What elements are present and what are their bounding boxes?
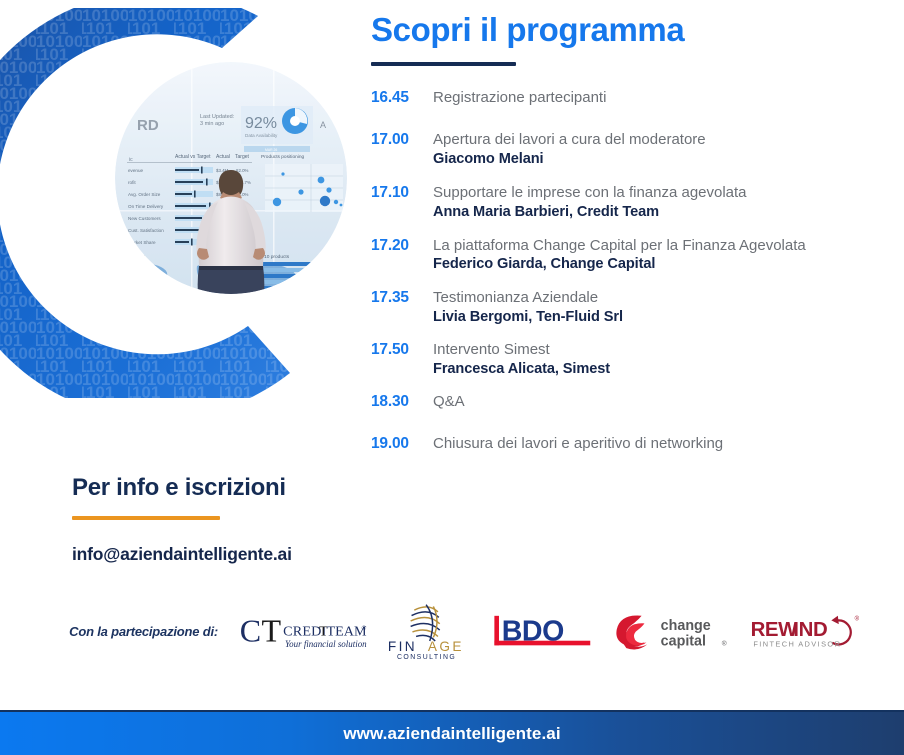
- schedule-speaker: Giacomo Melani: [433, 150, 891, 169]
- schedule-speaker: Francesca Alicata, Simest: [433, 360, 891, 379]
- creditteam-monogram-c: C: [240, 612, 261, 648]
- change-capital-line1: change: [661, 618, 711, 634]
- schedule-row: 17.20La piattaforma Change Capital per l…: [371, 236, 891, 275]
- contact-email[interactable]: info@aziendaintelligente.ai: [72, 544, 292, 565]
- schedule-description: Chiusura dei lavori e aperitivo di netwo…: [433, 434, 891, 454]
- creditteam-tagline: Your financial solution: [285, 639, 367, 649]
- partners-label: Con la partecipazione di:: [0, 624, 232, 639]
- schedule-description: Supportare le imprese con la finanza age…: [433, 183, 891, 203]
- finage-logo: FIN AGE CONSULTING: [372, 601, 482, 661]
- schedule-body: Testimonianza AziendaleLivia Bergomi, Te…: [433, 288, 891, 327]
- change-capital-swirl-icon: [616, 616, 647, 650]
- schedule-row: 17.10Supportare le imprese con la finanz…: [371, 183, 891, 222]
- bdo-logo: BDO: [482, 612, 610, 651]
- schedule-body: Registrazione partecipanti: [433, 88, 891, 108]
- info-title: Per info e iscrizioni: [72, 474, 292, 502]
- rewind-word-second: IND: [793, 619, 827, 641]
- schedule-row: 18.30Q&A: [371, 392, 891, 412]
- schedule-description: Apertura dei lavori a cura del moderator…: [433, 130, 891, 150]
- svg-text:®: ®: [855, 615, 860, 622]
- info-underline: [72, 516, 220, 520]
- change-capital-logo: change capital ®: [610, 610, 740, 652]
- schedule-body: Supportare le imprese con la finanza age…: [433, 183, 891, 222]
- schedule-body: Chiusura dei lavori e aperitivo di netwo…: [433, 434, 891, 454]
- schedule-time: 17.00: [371, 130, 433, 149]
- change-capital-line2: capital: [661, 633, 706, 649]
- schedule-time: 17.20: [371, 236, 433, 255]
- schedule-description: Q&A: [433, 392, 891, 412]
- creditteam-logo: C T CREDI T TEAM ® Your financial soluti…: [232, 609, 372, 653]
- schedule-description: La piattaforma Change Capital per la Fin…: [433, 236, 891, 256]
- schedule-time: 17.35: [371, 288, 433, 307]
- rewind-logo: REW IND ® FINTECH ADVISOR: [740, 611, 880, 652]
- schedule-speaker: Livia Bergomi, Ten-Fluid Srl: [433, 308, 891, 327]
- schedule-time: 17.50: [371, 340, 433, 359]
- finage-word-first: FIN: [388, 639, 417, 654]
- page-title: Scopri il programma: [371, 12, 891, 48]
- footer-bar: www.aziendaintelligente.ai: [0, 710, 904, 755]
- footer-website-url[interactable]: www.aziendaintelligente.ai: [343, 724, 560, 744]
- rewind-arrow-head: [831, 615, 838, 623]
- schedule-row: 16.45Registrazione partecipanti: [371, 88, 891, 108]
- flyer-page: 10100 01101: [0, 0, 904, 755]
- finage-word-second: AGE: [428, 639, 464, 654]
- bdo-wordmark: BDO: [502, 615, 564, 647]
- rewind-subtitle: FINTECH ADVISOR: [753, 639, 841, 648]
- schedule-row: 17.50Intervento SimestFrancesca Alicata,…: [371, 340, 891, 379]
- schedule-row: 17.35Testimonianza AziendaleLivia Bergom…: [371, 288, 891, 327]
- schedule-time: 17.10: [371, 183, 433, 202]
- finage-subtitle: CONSULTING: [397, 654, 456, 661]
- schedule-row: 17.00Apertura dei lavori a cura del mode…: [371, 130, 891, 169]
- rewind-word-first: REW: [751, 619, 799, 641]
- title-underline: [371, 62, 516, 66]
- schedule-body: Intervento SimestFrancesca Alicata, Sime…: [433, 340, 891, 379]
- info-section: Per info e iscrizioni info@aziendaintell…: [72, 474, 292, 565]
- schedule-time: 19.00: [371, 434, 433, 453]
- schedule-row: 19.00Chiusura dei lavori e aperitivo di …: [371, 434, 891, 454]
- schedule-speaker: Federico Giarda, Change Capital: [433, 255, 891, 274]
- partners-row: Con la partecipazione di: C T CREDI T TE…: [0, 592, 904, 670]
- schedule-description: Registrazione partecipanti: [433, 88, 891, 108]
- schedule-time: 18.30: [371, 392, 433, 411]
- schedule-body: Apertura dei lavori a cura del moderator…: [433, 130, 891, 169]
- hero-graphic: 10100 01101: [0, 0, 360, 420]
- schedule-description: Testimonianza Aziendale: [433, 288, 891, 308]
- schedule-body: La piattaforma Change Capital per la Fin…: [433, 236, 891, 275]
- dashboard-photo: RD Last Updated: 3 min ago 92% Data Avai…: [115, 62, 347, 294]
- svg-text:®: ®: [361, 625, 366, 632]
- finage-globe-icon: [411, 605, 440, 641]
- schedule-body: Q&A: [433, 392, 891, 412]
- program-section: Scopri il programma 16.45Registrazione p…: [371, 12, 891, 454]
- schedule-description: Intervento Simest: [433, 340, 891, 360]
- svg-text:®: ®: [722, 639, 727, 647]
- schedule-speaker: Anna Maria Barbieri, Credit Team: [433, 203, 891, 222]
- schedule-time: 16.45: [371, 88, 433, 107]
- schedule-list: 16.45Registrazione partecipanti17.00Aper…: [371, 88, 891, 453]
- creditteam-monogram-t: T: [261, 612, 281, 648]
